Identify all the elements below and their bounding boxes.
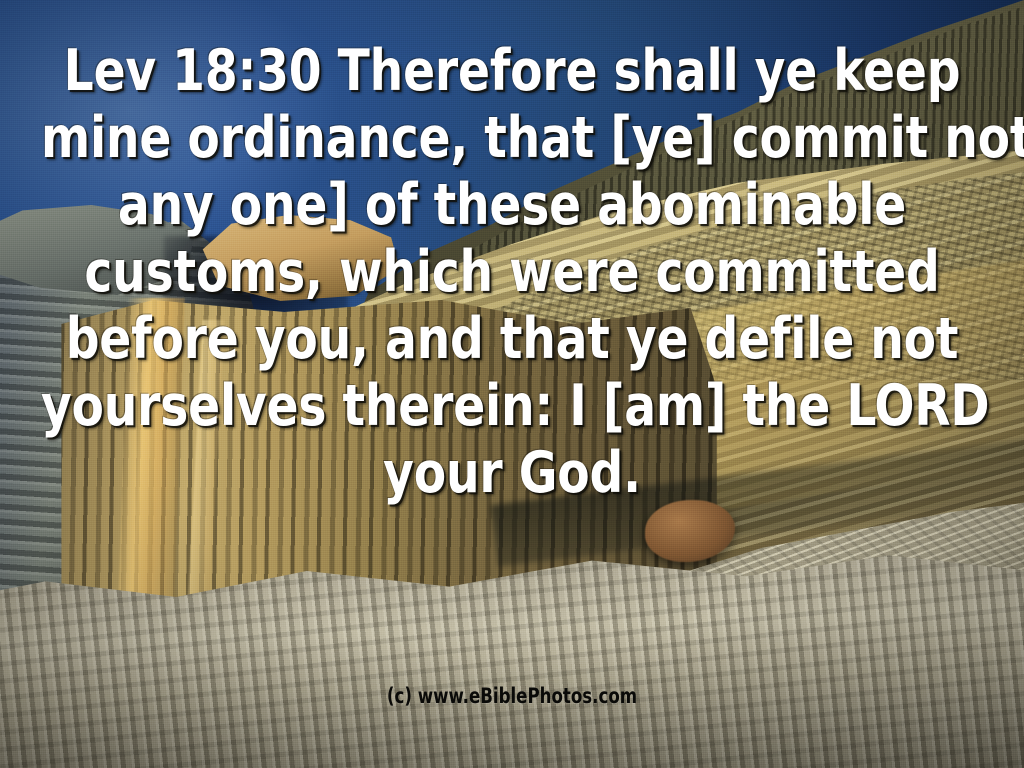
verse-line: customs, which were committed bbox=[41, 239, 983, 306]
copyright-watermark: (c) www.eBiblePhotos.com bbox=[61, 685, 962, 707]
verse-line: yourselves therein: I [am] the LORD bbox=[41, 373, 983, 440]
verse-text-overlay: Lev 18:30 Therefore shall ye keep mine o… bbox=[41, 38, 983, 507]
verse-line: Lev 18:30 Therefore shall ye keep bbox=[41, 38, 983, 105]
verse-line: before you, and that ye defile not bbox=[41, 306, 983, 373]
verse-line: mine ordinance, that [ye] commit not [ bbox=[41, 105, 983, 172]
verse-line: your God. bbox=[41, 440, 983, 507]
verse-line: any one] of these abominable bbox=[41, 172, 983, 239]
scripture-image-card: Lev 18:30 Therefore shall ye keep mine o… bbox=[0, 0, 1024, 768]
